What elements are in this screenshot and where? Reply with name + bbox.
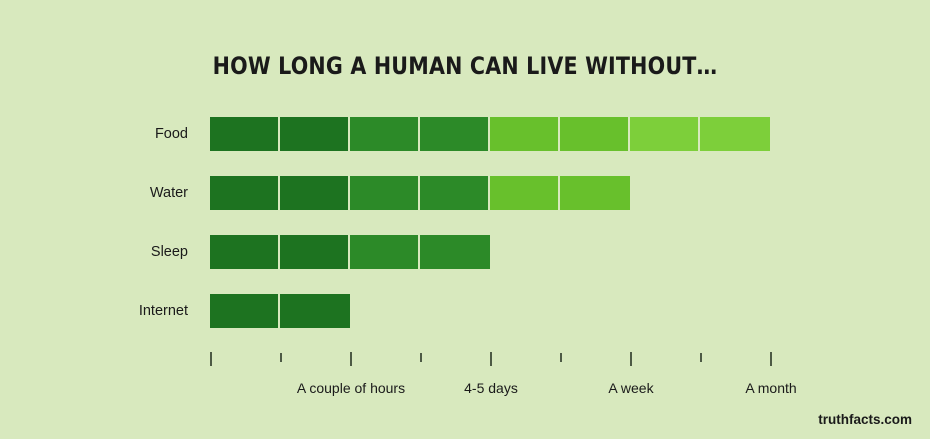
bar-label-sleep: Sleep (0, 244, 188, 260)
bar-segment (210, 294, 280, 328)
bar-row-water: Water (0, 176, 930, 210)
bar-segment (280, 176, 350, 210)
bar-segment (490, 117, 560, 151)
bar-segment (210, 176, 280, 210)
bar-segment (420, 235, 490, 269)
bar-row-internet: Internet (0, 294, 930, 328)
bar-label-food: Food (0, 126, 188, 142)
bar-segment (280, 294, 350, 328)
bar-segment (350, 176, 420, 210)
bar-row-food: Food (0, 117, 930, 151)
bar-segment (280, 235, 350, 269)
bar-segment (490, 176, 560, 210)
bar-segment (420, 117, 490, 151)
bar-segment (560, 117, 630, 151)
bar-segment (280, 117, 350, 151)
bar-segment (350, 117, 420, 151)
bar-label-water: Water (0, 185, 188, 201)
bar-food (210, 117, 770, 151)
bar-sleep (210, 235, 490, 269)
bar-segment (630, 117, 700, 151)
bar-water (210, 176, 630, 210)
bar-segment (420, 176, 490, 210)
bar-segment (700, 117, 770, 151)
attribution-label: truthfacts.com (818, 412, 912, 427)
bar-segment (560, 176, 630, 210)
bar-label-internet: Internet (0, 303, 188, 319)
infographic-chart: HOW LONG A HUMAN CAN LIVE WITHOUT… FoodW… (0, 0, 930, 439)
plot-area: FoodWaterSleepInternet (0, 0, 930, 439)
bar-row-sleep: Sleep (0, 235, 930, 269)
bar-segment (350, 235, 420, 269)
bar-segment (210, 235, 280, 269)
bar-internet (210, 294, 350, 328)
bar-segment (210, 117, 280, 151)
